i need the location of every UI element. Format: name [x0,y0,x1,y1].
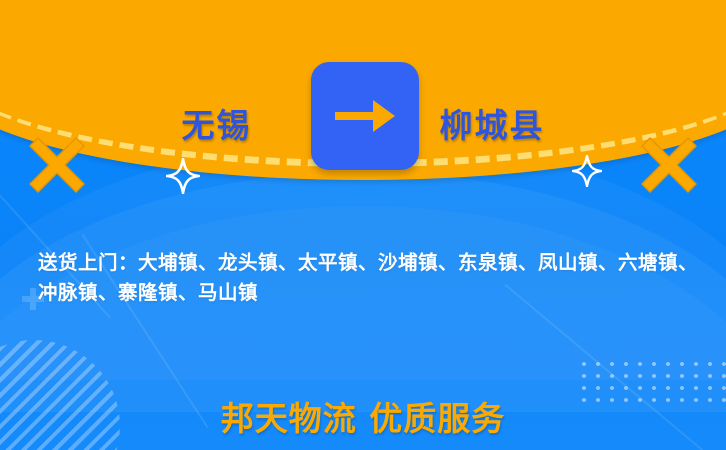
route-headline: 无锡 柳城县 [0,88,726,158]
delivery-line-2: 冲脉镇、寨隆镇、马山镇 [38,278,698,308]
delivery-towns-text: 送货上门：大埔镇、龙头镇、太平镇、沙埔镇、东泉镇、凤山镇、六塘镇、 冲脉镇、寨隆… [38,248,698,308]
destination-city: 柳城县 [440,99,545,147]
logistics-route-banner: 无锡 柳城县 送货上门：大埔镇、龙头镇、太平镇、沙埔镇、东泉镇、凤山镇、六塘镇、… [0,0,726,450]
origin-city: 无锡 [182,99,252,147]
company-slogan: 邦天物流 优质服务 [0,392,726,440]
delivery-line-1: 送货上门：大埔镇、龙头镇、太平镇、沙埔镇、东泉镇、凤山镇、六塘镇、 [38,248,698,278]
